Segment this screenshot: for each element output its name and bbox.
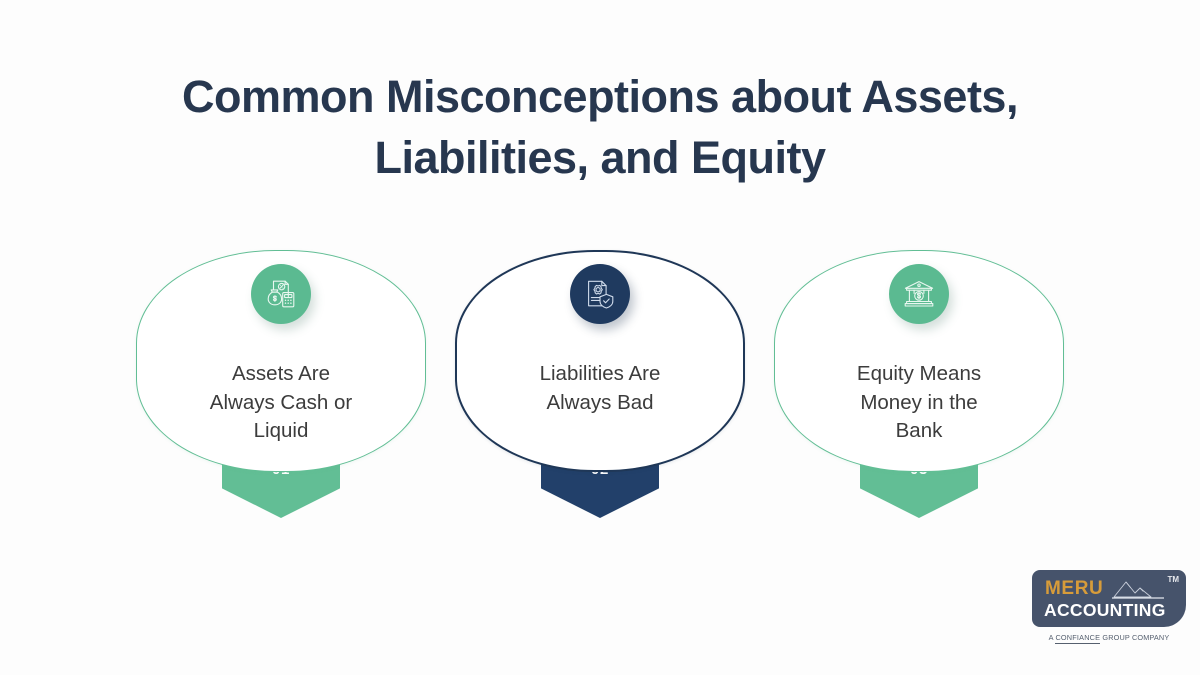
document-shield-icon-badge (570, 264, 630, 324)
bank-dollar-icon (902, 277, 936, 311)
misconception-card-1[interactable]: 01 (136, 248, 426, 568)
document-shield-icon (583, 277, 617, 311)
misconception-cards-row: 01 (0, 248, 1200, 568)
logo-box: MERU TM ACCOUNTING (1032, 570, 1186, 627)
card-caption-3: Equity Means Money in the Bank (796, 360, 1042, 446)
card-caption-1: Assets Are Always Cash or Liquid (158, 360, 404, 446)
logo-tagline: A CONFIANCE GROUP COMPANY (1032, 633, 1186, 642)
logo-brand-primary: MERU (1045, 578, 1103, 600)
tagline-brand: CONFIANCE (1055, 633, 1100, 644)
misconception-card-3[interactable]: 03 (774, 248, 1064, 568)
tagline-suffix: GROUP COMPANY (1100, 633, 1169, 642)
brand-logo[interactable]: MERU TM ACCOUNTING A CONFIANCE GROUP COM… (1032, 570, 1186, 650)
logo-brand-secondary: ACCOUNTING (1044, 600, 1166, 621)
money-bag-calculator-icon (264, 277, 298, 311)
page-title: Common Misconceptions about Assets, Liab… (0, 66, 1200, 188)
misconception-card-2[interactable]: 02 Liabil (455, 248, 745, 568)
money-bag-calculator-icon-badge (251, 264, 311, 324)
card-caption-2: Liabilities Are Always Bad (477, 360, 723, 417)
trademark-label: TM (1167, 575, 1179, 584)
bank-dollar-icon-badge (889, 264, 949, 324)
mountain-icon (1112, 579, 1164, 599)
